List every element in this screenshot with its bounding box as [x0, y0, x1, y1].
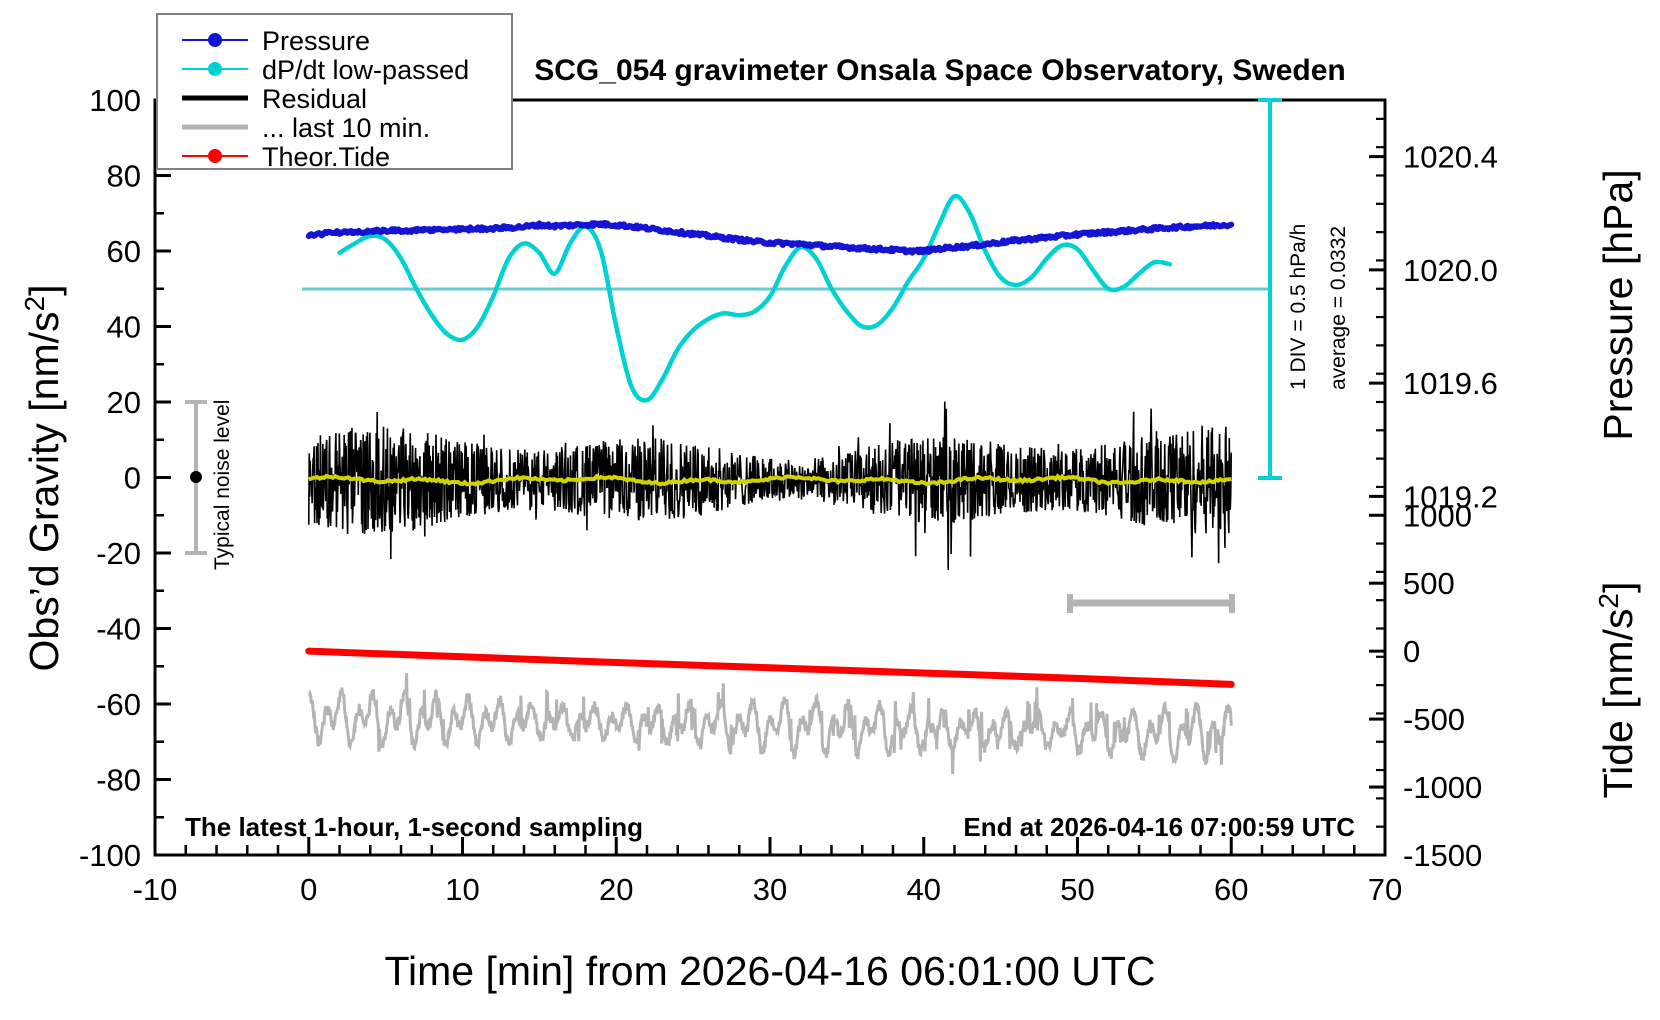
tide-tick-label: -1500	[1403, 838, 1482, 873]
x-tick-label: 40	[907, 872, 941, 907]
legend-marker-dot	[208, 33, 222, 47]
x-tick-label: 20	[599, 872, 633, 907]
typical-noise-level-label: Typical noise level	[211, 400, 234, 570]
y-tick-label: 20	[107, 385, 141, 420]
tide-tick-label: 1000	[1403, 498, 1472, 533]
legend-label: Pressure	[262, 26, 370, 56]
y-tick-label: -20	[96, 536, 141, 571]
y-tick-label: -40	[96, 612, 141, 647]
legend-marker-dot	[208, 62, 222, 76]
gravimeter-chart: Typical noise level 1 DIV = 0.5 hPa/h av…	[0, 0, 1660, 1020]
noise-center-dot	[190, 471, 202, 483]
page-title: SCG_054 gravimeter Onsala Space Observat…	[534, 54, 1346, 87]
pressure-tick-label: 1020.4	[1403, 140, 1498, 175]
dpdt-scale-average-label: average = 0.0332	[1327, 226, 1350, 390]
legend-label: dP/dt low-passed	[262, 55, 469, 85]
tide-tick-label: -1000	[1403, 770, 1482, 805]
footer-right-note: End at 2026-04-16 07:00:59 UTC	[963, 812, 1355, 842]
footer-left-note: The latest 1-hour, 1-second sampling	[185, 812, 643, 842]
legend-label: Residual	[262, 84, 367, 114]
pressure-tick-label: 1019.6	[1403, 366, 1498, 401]
tide-tick-label: -500	[1403, 702, 1465, 737]
x-tick-label: 60	[1214, 872, 1248, 907]
tide-axis-title: Tide [nm/s2]	[1593, 582, 1641, 799]
y-tick-label: 60	[107, 234, 141, 269]
y-tick-label: 80	[107, 159, 141, 194]
chart-root: Typical noise level 1 DIV = 0.5 hPa/h av…	[0, 0, 1660, 1020]
x-tick-label: 10	[445, 872, 479, 907]
tide-tick-label: 0	[1403, 634, 1420, 669]
x-tick-label: 50	[1060, 872, 1094, 907]
pressure-axis-title: Pressure [hPa]	[1595, 169, 1641, 440]
legend: PressuredP/dt low-passedResidual... last…	[157, 14, 512, 172]
x-axis-title: Time [min] from 2026-04-16 06:01:00 UTC	[385, 948, 1156, 994]
y-tick-label: 0	[124, 461, 141, 496]
legend-marker-dot	[208, 149, 222, 163]
x-tick-label: 70	[1368, 872, 1402, 907]
x-tick-label: 0	[300, 872, 317, 907]
y-tick-label: 100	[89, 83, 141, 118]
legend-label: ... last 10 min.	[262, 113, 430, 143]
y-tick-label: 40	[107, 310, 141, 345]
legend-label: Theor.Tide	[262, 142, 390, 172]
y-tick-label: -100	[79, 838, 141, 873]
x-tick-label: 30	[753, 872, 787, 907]
y-tick-label: -80	[96, 763, 141, 798]
x-tick-label: -10	[133, 872, 178, 907]
dpdt-scale-div-label: 1 DIV = 0.5 hPa/h	[1287, 224, 1310, 390]
y-axis-title: Obs’d Gravity [nm/s2]	[19, 285, 67, 672]
pressure-tick-label: 1020.0	[1403, 253, 1498, 288]
tide-tick-label: 500	[1403, 566, 1455, 601]
y-tick-label: -60	[96, 687, 141, 722]
